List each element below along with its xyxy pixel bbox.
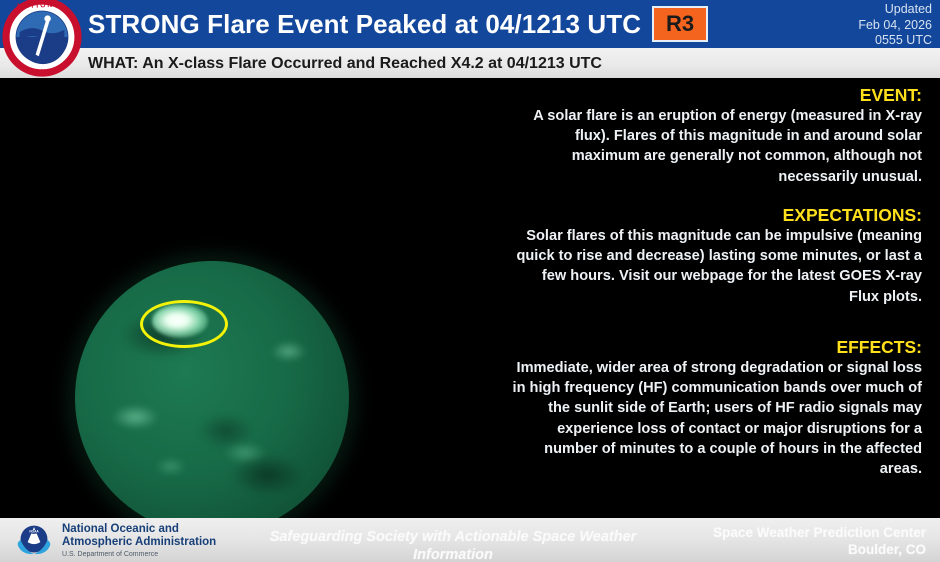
section-event-body: A solar flare is an eruption of energy (… (510, 106, 922, 187)
updated-date: Feb 04, 2026 (727, 18, 932, 34)
swpc-location: Boulder, CO (666, 541, 926, 558)
section-event-heading: EVENT: (510, 84, 922, 106)
section-expectations-heading: EXPECTATIONS: (510, 204, 922, 226)
updated-timestamp: Updated Feb 04, 2026 0555 UTC (727, 2, 932, 49)
radio-blackout-scale-badge: R3 (652, 6, 708, 42)
swpc-attribution: Space Weather Prediction Center Boulder,… (666, 524, 926, 558)
svg-text:NOAA: NOAA (29, 530, 39, 534)
noaa-agency-name: National Oceanic and Atmospheric Adminis… (62, 523, 216, 560)
section-expectations: EXPECTATIONS: Solar flares of this magni… (510, 204, 922, 307)
updated-label: Updated (727, 2, 932, 18)
noaa-agency-line2: Atmospheric Administration (62, 536, 216, 549)
space-weather-alert-graphic: N A T I O N A L S E R V I C E STRONG Fla… (0, 0, 940, 562)
section-effects: EFFECTS: Immediate, wider area of strong… (510, 336, 922, 479)
section-effects-body: Immediate, wider area of strong degradat… (510, 358, 922, 479)
svg-text:S E R V I C E: S E R V I C E (25, 69, 59, 75)
national-weather-service-logo-icon: N A T I O N A L S E R V I C E (2, 0, 82, 77)
updated-time: 0555 UTC (727, 33, 932, 49)
solar-surface-texture (75, 261, 349, 518)
noaa-department-line: U.S. Department of Commerce (62, 550, 216, 560)
noaa-agency-line1: National Oceanic and (62, 523, 216, 536)
section-expectations-body: Solar flares of this magnitude can be im… (510, 226, 922, 307)
page-title: STRONG Flare Event Peaked at 04/1213 UTC (88, 8, 633, 42)
solar-image-panel: GOES-19 SUVI Composite 094 Angstroms 202… (0, 78, 470, 518)
flare-highlight-ellipse (140, 300, 228, 348)
swpc-center-name: Space Weather Prediction Center (666, 524, 926, 541)
advisory-text-panel: EVENT: A solar flare is an eruption of e… (470, 78, 940, 518)
section-effects-heading: EFFECTS: (510, 336, 922, 358)
noaa-logo-icon: NOAA (14, 524, 54, 558)
footer-tagline: Safeguarding Society with Actionable Spa… (228, 528, 678, 562)
subtitle-text: WHAT: An X-class Flare Occurred and Reac… (88, 54, 602, 74)
section-event: EVENT: A solar flare is an eruption of e… (510, 84, 922, 187)
